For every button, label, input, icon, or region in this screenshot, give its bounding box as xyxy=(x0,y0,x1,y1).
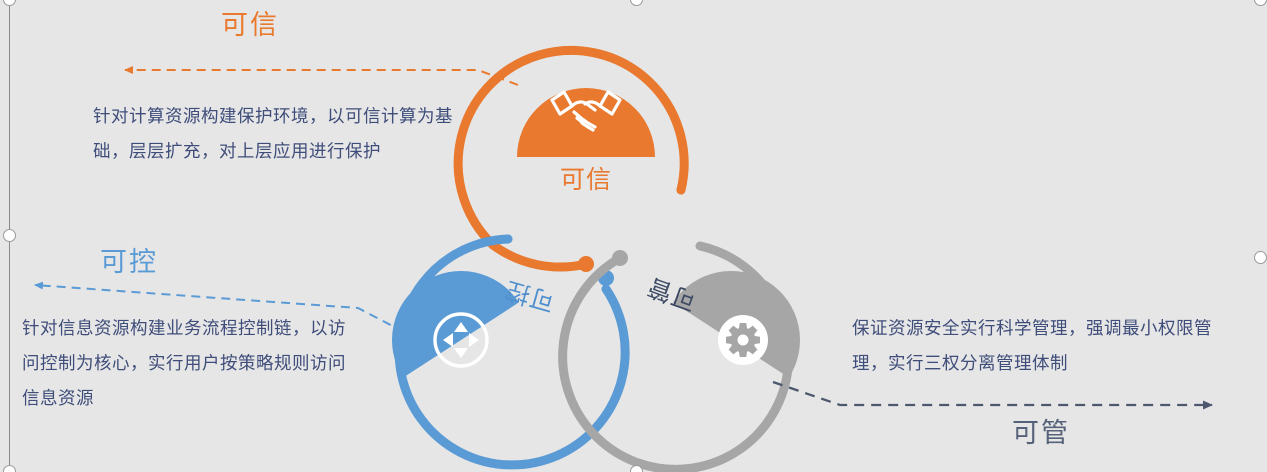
callout-body-manageable: 保证资源安全实行科学管理，强调最小权限管理，实行三权分离管理体制 xyxy=(852,311,1227,381)
resize-handle-bottom-left[interactable] xyxy=(3,465,16,472)
manageable-leader-line xyxy=(773,382,1212,405)
resize-handle-bottom-center[interactable] xyxy=(630,465,643,472)
controllable-arc-end-dot xyxy=(504,235,513,244)
resize-handle-middle-left[interactable] xyxy=(3,229,16,242)
callout-title-manageable: 可管 xyxy=(1012,420,1070,447)
callout-title-controllable: 可控 xyxy=(100,249,158,276)
callout-title-trusted: 可信 xyxy=(221,12,279,39)
trusted-leader-line xyxy=(125,70,518,85)
callout-body-trusted: 针对计算资源构建保护环境，以可信计算为基础，层层扩充，对上层应用进行保护 xyxy=(93,99,473,169)
resize-handle-middle-right[interactable] xyxy=(1254,251,1267,264)
trusted-arc-end-dot xyxy=(677,186,686,195)
ring-label-trusted: 可信 xyxy=(560,168,612,193)
gear-icon xyxy=(718,315,768,365)
manageable-arc-start-dot xyxy=(612,250,628,266)
trusted-ring-arc-tail xyxy=(493,245,586,267)
slide-canvas[interactable]: 可信 可控 可管 可信 可控 可管 针对计算资源构建保护环境，以可信计算为基础，… xyxy=(0,0,1267,472)
callout-body-controllable: 针对信息资源构建业务流程控制链，以访问控制为核心，实行用户按策略规则访问信息资源 xyxy=(22,311,362,416)
